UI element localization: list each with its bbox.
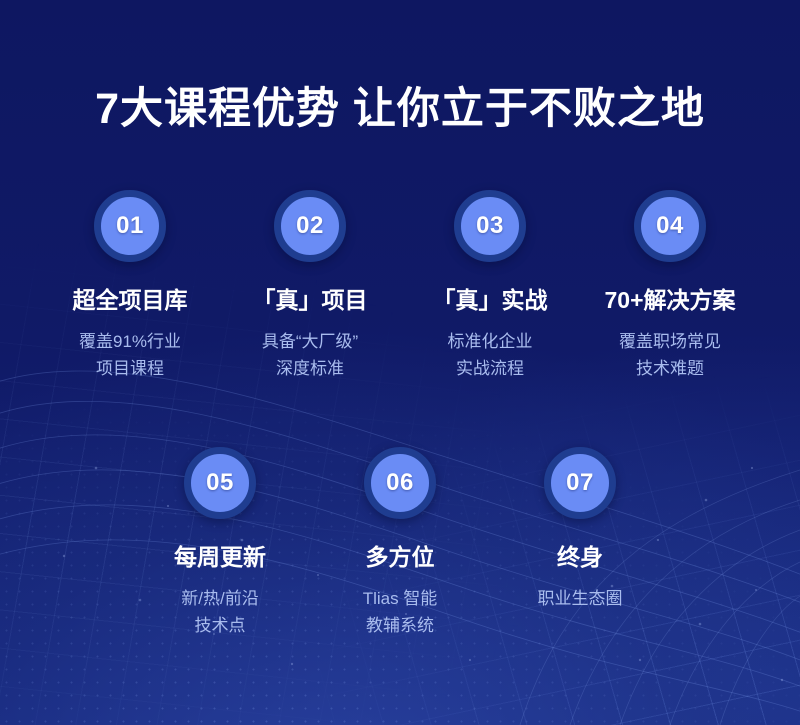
feature-subtitle-line: 项目课程 (79, 355, 181, 383)
feature-subtitle-line: 职业生态圈 (538, 585, 623, 613)
feature-title: 70+解决方案 (604, 287, 735, 315)
feature-card-01[interactable]: 01 超全项目库 覆盖91%行业 项目课程 (40, 190, 220, 383)
feature-title: 多方位 (366, 544, 435, 572)
feature-number: 02 (296, 214, 324, 238)
feature-number: 03 (476, 214, 504, 238)
feature-number-badge: 02 (274, 190, 346, 262)
feature-number-badge: 05 (184, 447, 256, 519)
feature-title: 终身 (557, 544, 603, 572)
feature-number-badge: 04 (634, 190, 706, 262)
feature-card-05[interactable]: 05 每周更新 新/热/前沿 技术点 (130, 447, 310, 640)
feature-subtitle-line: Tlias 智能 (363, 585, 438, 613)
feature-subtitle-line: 技术点 (181, 612, 258, 640)
feature-number: 05 (206, 471, 234, 495)
feature-number: 07 (566, 471, 594, 495)
feature-title: 每周更新 (174, 544, 266, 572)
feature-subtitle: 职业生态圈 (538, 585, 623, 613)
feature-number: 06 (386, 471, 414, 495)
promo-poster: 7大课程优势 让你立于不败之地 01 超全项目库 覆盖91%行业 项目课程 02… (0, 0, 800, 725)
feature-subtitle-line: 实战流程 (448, 355, 533, 383)
feature-subtitle-line: 覆盖91%行业 (79, 328, 181, 356)
feature-subtitle: 覆盖91%行业 项目课程 (79, 328, 181, 383)
feature-subtitle-line: 技术难题 (619, 355, 721, 383)
feature-card-07[interactable]: 07 终身 职业生态圈 (490, 447, 670, 640)
feature-number: 01 (116, 214, 144, 238)
feature-subtitle: 标准化企业 实战流程 (448, 328, 533, 383)
feature-subtitle-line: 标准化企业 (448, 328, 533, 356)
feature-subtitle: 新/热/前沿 技术点 (181, 585, 258, 640)
feature-number: 04 (656, 214, 684, 238)
feature-subtitle: Tlias 智能 教辅系统 (363, 585, 438, 640)
feature-card-04[interactable]: 04 70+解决方案 覆盖职场常见 技术难题 (580, 190, 760, 383)
feature-subtitle: 具备“大厂级” 深度标准 (262, 328, 358, 383)
feature-card-02[interactable]: 02 「真」项目 具备“大厂级” 深度标准 (220, 190, 400, 383)
feature-title: 「真」项目 (253, 287, 368, 315)
feature-card-06[interactable]: 06 多方位 Tlias 智能 教辅系统 (310, 447, 490, 640)
feature-row-top: 01 超全项目库 覆盖91%行业 项目课程 02 「真」项目 具备“大厂级” 深… (33, 190, 767, 383)
page-title: 7大课程优势 让你立于不败之地 (0, 84, 800, 135)
feature-title: 超全项目库 (73, 287, 188, 315)
feature-title: 「真」实战 (433, 287, 548, 315)
feature-subtitle-line: 具备“大厂级” (262, 328, 358, 356)
feature-row-bottom: 05 每周更新 新/热/前沿 技术点 06 多方位 Tlias 智能 教辅系统 … (128, 447, 672, 640)
feature-subtitle-line: 深度标准 (262, 355, 358, 383)
feature-number-badge: 06 (364, 447, 436, 519)
feature-number-badge: 01 (94, 190, 166, 262)
feature-subtitle-line: 新/热/前沿 (181, 585, 258, 613)
feature-subtitle-line: 教辅系统 (363, 612, 438, 640)
feature-number-badge: 07 (544, 447, 616, 519)
feature-card-03[interactable]: 03 「真」实战 标准化企业 实战流程 (400, 190, 580, 383)
feature-subtitle: 覆盖职场常见 技术难题 (619, 328, 721, 383)
feature-subtitle-line: 覆盖职场常见 (619, 328, 721, 356)
feature-number-badge: 03 (454, 190, 526, 262)
